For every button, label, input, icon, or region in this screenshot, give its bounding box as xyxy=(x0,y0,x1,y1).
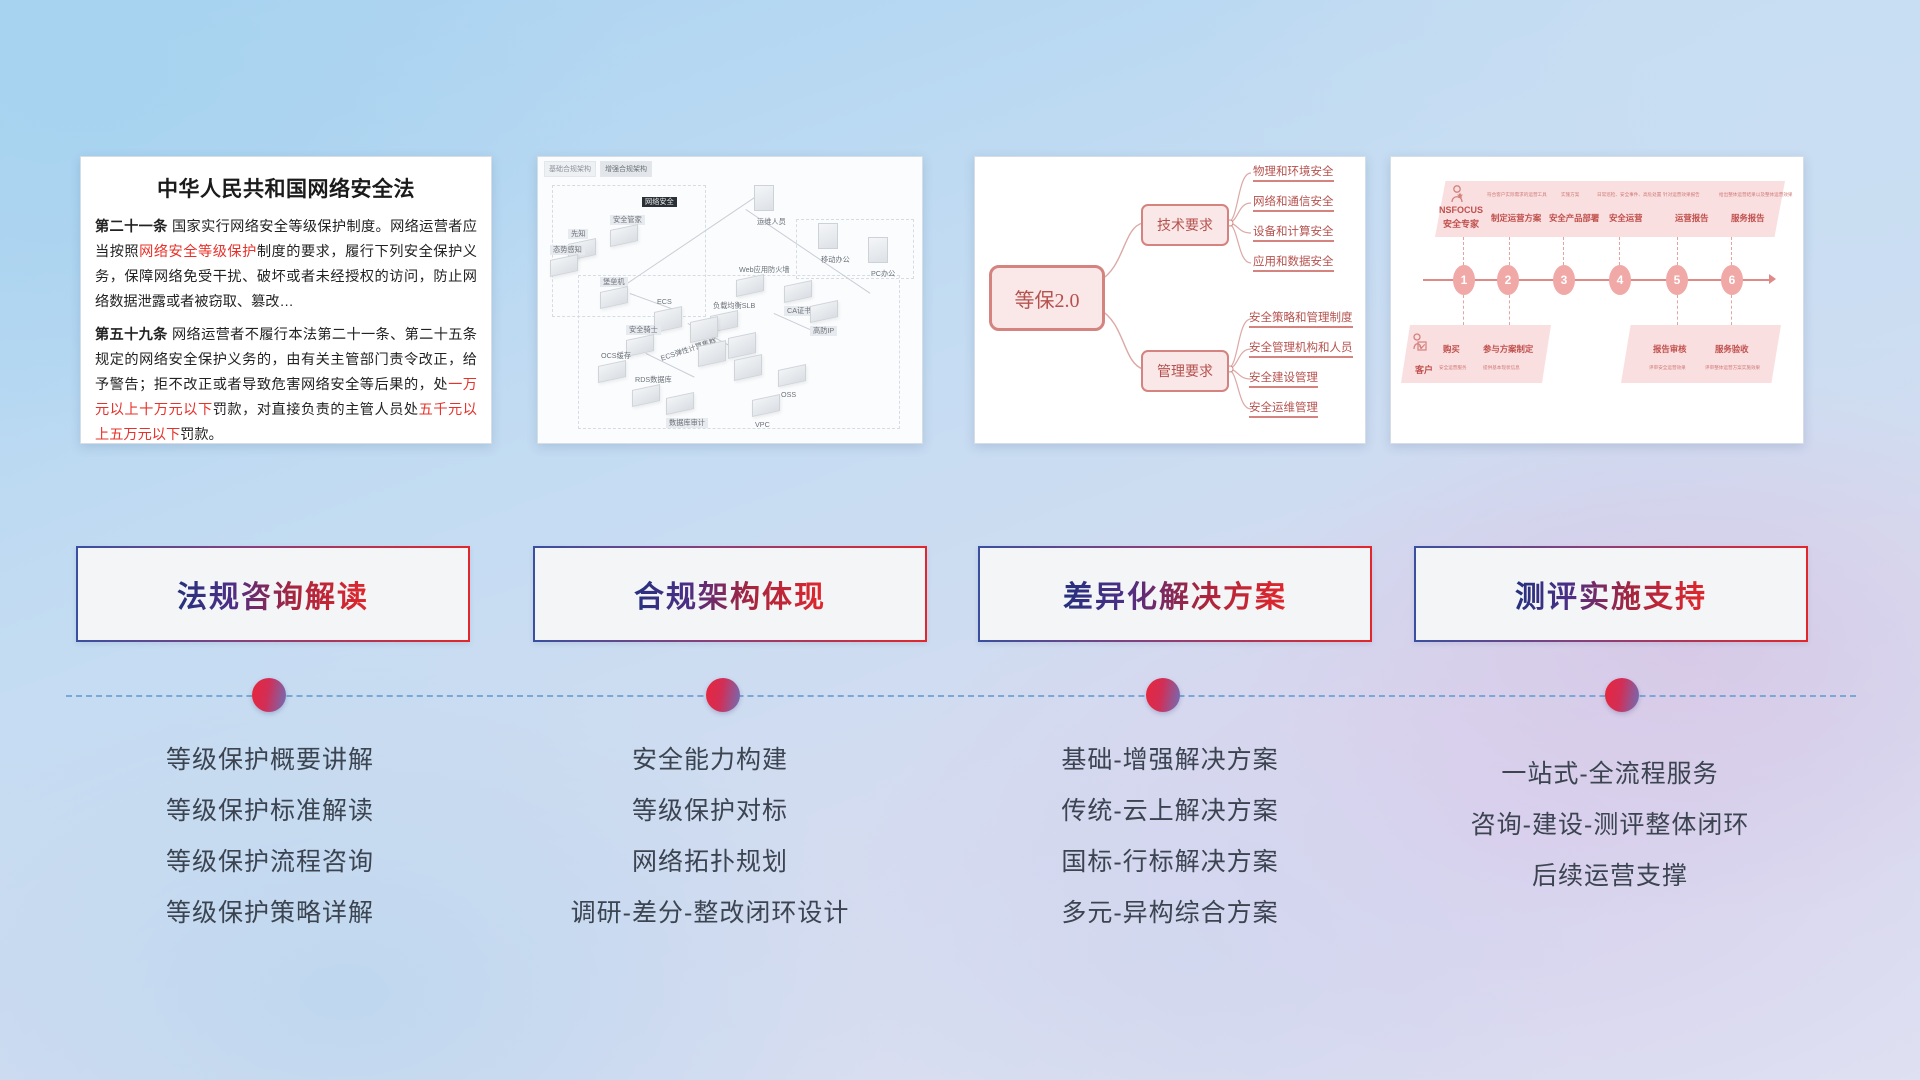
node-label: 数据库审计 xyxy=(666,418,708,428)
timeline-node-3[interactable] xyxy=(1146,678,1180,712)
node-label: VPC xyxy=(752,420,773,430)
timeline-axis xyxy=(1423,279,1771,281)
isometric-box-icon xyxy=(598,360,626,383)
section-title-row: 法规咨询解读 合规架构体现 差异化解决方案 测评实施支持 xyxy=(0,546,1920,642)
step-label: 安全运营 xyxy=(1609,212,1643,224)
node-network-security: 网络安全 xyxy=(642,191,677,209)
timeline-step-dot[interactable]: 2 xyxy=(1497,265,1519,295)
isometric-box-icon xyxy=(600,286,628,309)
server-icon xyxy=(818,223,838,249)
law-document: 中华人民共和国网络安全法 第二十一条 国家实行网络安全等级保护制度。网络运营者应… xyxy=(81,157,491,443)
step-note: 评审安全运营效果 xyxy=(1649,365,1686,371)
mindmap-leaf: 安全运维管理 xyxy=(1249,399,1318,418)
list-item: 一站式-全流程服务 xyxy=(1400,749,1820,800)
node-label: 先知 xyxy=(568,229,588,239)
article-21-highlight: 网络安全等级保护 xyxy=(139,244,257,260)
mindmap: 等保2.0 技术要求 物理和环境安全 网络和通信安全 设备和计算安全 应用和数据… xyxy=(975,157,1365,443)
isometric-box-icon xyxy=(728,332,756,359)
isometric-box-icon xyxy=(752,394,780,417)
timeline-node-2[interactable] xyxy=(706,678,740,712)
list-item: 咨询-建设-测评整体闭环 xyxy=(1400,800,1820,851)
card-service-timeline: NSFOCUS 安全专家 符合客户实际需求的运营工具 制定运营方案 实施方案 安… xyxy=(1390,156,1804,444)
step-note: 日常巡检、安全事件、高危处置 xyxy=(1597,192,1661,198)
mindmap-leaf: 安全策略和管理制度 xyxy=(1249,309,1353,328)
isometric-box-icon xyxy=(778,364,806,387)
card-mindmap-dengbao: 等保2.0 技术要求 物理和环境安全 网络和通信安全 设备和计算安全 应用和数据… xyxy=(974,156,1366,444)
architecture-diagram: 基础合规架构 增强合规架构 网络安全 安全管家 xyxy=(538,157,922,443)
timeline-step-dot[interactable]: 1 xyxy=(1453,265,1475,295)
section-detail-row: 等级保护概要讲解 等级保护标准解读 等级保护流程咨询 等级保护策略详解 安全能力… xyxy=(0,735,1920,985)
card-cybersecurity-law: 中华人民共和国网络安全法 第二十一条 国家实行网络安全等级保护制度。网络运营者应… xyxy=(80,156,492,444)
detail-column-4: 一站式-全流程服务 咨询-建设-测评整体闭环 后续运营支撑 xyxy=(1400,749,1820,902)
step-label: 购买 xyxy=(1443,343,1460,355)
node-compute-unit xyxy=(698,343,726,364)
node-ops-personnel: 运维人员 xyxy=(754,185,789,229)
timeline-connector xyxy=(1463,237,1464,265)
section-title-text: 法规咨询解读 xyxy=(177,572,369,616)
mindmap-branch-management[interactable]: 管理要求 xyxy=(1141,350,1229,392)
law-article-59: 第五十九条 网络运营者不履行本法第二十一条、第二十五条规定的网络安全保护义务的，… xyxy=(95,323,477,444)
isometric-box-icon xyxy=(736,274,764,297)
node-compute-unit xyxy=(734,357,762,378)
expert-icon xyxy=(1449,185,1465,203)
node-vpc: VPC xyxy=(752,397,780,432)
architecture-tabs: 基础合规架构 增强合规架构 xyxy=(544,161,652,177)
section-title-text: 合规架构体现 xyxy=(634,572,826,616)
node-situational-awareness: 态势感知 xyxy=(550,239,585,274)
isometric-box-icon xyxy=(810,300,838,323)
detail-column-1: 等级保护概要讲解 等级保护标准解读 等级保护流程咨询 等级保护策略详解 xyxy=(60,735,480,939)
provider-role-sub: 安全专家 xyxy=(1443,217,1479,230)
article-59-label: 第五十九条 xyxy=(95,327,168,343)
tab-basic-architecture[interactable]: 基础合规架构 xyxy=(544,161,596,177)
isometric-box-icon xyxy=(734,354,762,381)
provider-role-name: NSFOCUS xyxy=(1439,205,1483,215)
server-icon xyxy=(754,185,774,211)
node-ocs-cache: OCS缓存 xyxy=(598,345,634,380)
detail-column-2: 安全能力构建 等级保护对标 网络拓扑规划 调研-差分-整改闭环设计 xyxy=(500,735,920,939)
node-label: 安全骑士 xyxy=(626,325,661,335)
timeline-arrow-icon xyxy=(1769,274,1776,284)
list-item: 国标-行标解决方案 xyxy=(960,837,1380,888)
step-label: 报告审核 xyxy=(1653,343,1687,355)
timeline-connector xyxy=(1731,237,1732,265)
mindmap-leaf: 网络和通信安全 xyxy=(1253,193,1334,212)
step-note: 安全运营服务 xyxy=(1439,365,1467,371)
law-article-21: 第二十一条 国家实行网络安全等级保护制度。网络运营者应当按照网络安全等级保护制度… xyxy=(95,215,477,315)
step-note: 针对运营效果报告 xyxy=(1663,192,1700,198)
step-label: 安全产品部署 xyxy=(1549,212,1599,224)
node-label: 安全管家 xyxy=(610,215,645,225)
step-label: 制定运营方案 xyxy=(1491,212,1541,224)
list-item: 等级保护标准解读 xyxy=(60,786,480,837)
customer-band-right xyxy=(1621,325,1781,383)
mindmap-branch-technical[interactable]: 技术要求 xyxy=(1141,204,1229,246)
timeline-axis-row xyxy=(0,660,1920,720)
node-label: 高防IP xyxy=(810,326,837,336)
step-label: 运营报告 xyxy=(1675,212,1709,224)
step-note: 提供基本现状信息 xyxy=(1483,365,1520,371)
step-note: 评审整体运营方案实施效果 xyxy=(1705,365,1760,371)
law-title: 中华人民共和国网络安全法 xyxy=(95,173,477,203)
isometric-box-icon xyxy=(666,392,694,415)
isometric-box-icon xyxy=(784,280,812,303)
step-label: 服务报告 xyxy=(1731,212,1765,224)
timeline-node-1[interactable] xyxy=(252,678,286,712)
timeline-connector xyxy=(1509,295,1510,325)
illustration-row: 中华人民共和国网络安全法 第二十一条 国家实行网络安全等级保护制度。网络运营者应… xyxy=(0,0,1920,460)
section-title-box-3[interactable]: 差异化解决方案 xyxy=(978,546,1372,642)
mindmap-root[interactable]: 等保2.0 xyxy=(989,265,1105,331)
timeline-connector xyxy=(1731,295,1732,325)
node-label: Web应用防火墙 xyxy=(736,265,793,275)
card-compliance-architecture: 基础合规架构 增强合规架构 网络安全 安全管家 xyxy=(537,156,923,444)
timeline-connector xyxy=(1509,237,1510,265)
node-label: 负载均衡SLB xyxy=(710,301,758,311)
list-item: 等级保护策略详解 xyxy=(60,888,480,939)
article-59-text-c: 罚款。 xyxy=(180,427,223,443)
node-label: OCS缓存 xyxy=(598,351,634,361)
customer-icon xyxy=(1413,333,1428,351)
step-label: 参与方案制定 xyxy=(1483,343,1533,355)
section-title-box-2[interactable]: 合规架构体现 xyxy=(533,546,927,642)
timeline-connector xyxy=(1677,237,1678,265)
section-title-text: 测评实施支持 xyxy=(1515,572,1707,616)
timeline-step-dot[interactable]: 6 xyxy=(1721,265,1743,295)
node-bastion-host: 堡垒机 xyxy=(600,271,628,306)
mindmap-leaf: 安全管理机构和人员 xyxy=(1249,339,1353,358)
node-oss: OSS xyxy=(778,367,806,402)
list-item: 等级保护流程咨询 xyxy=(60,837,480,888)
timeline-node-4[interactable] xyxy=(1605,678,1639,712)
mindmap-leaf: 应用和数据安全 xyxy=(1253,253,1334,272)
step-note: 符合客户实际需求的运营工具 xyxy=(1487,192,1547,198)
list-item: 等级保护对标 xyxy=(500,786,920,837)
isometric-box-icon xyxy=(690,316,718,343)
list-item: 基础-增强解决方案 xyxy=(960,735,1380,786)
timeline-connector xyxy=(1563,237,1564,265)
node-label: PC办公 xyxy=(868,269,898,279)
step-note: 给出整体运营结果以及整体运营效果 xyxy=(1719,192,1793,198)
list-item: 网络拓扑规划 xyxy=(500,837,920,888)
isometric-box-icon xyxy=(550,254,578,277)
node-compute-unit xyxy=(690,319,718,340)
node-compute-unit xyxy=(728,335,756,356)
node-label: ECS xyxy=(654,297,675,307)
list-item: 后续运营支撑 xyxy=(1400,851,1820,902)
step-label: 服务验收 xyxy=(1715,343,1749,355)
service-timeline: NSFOCUS 安全专家 符合客户实际需求的运营工具 制定运营方案 实施方案 安… xyxy=(1391,157,1803,443)
list-item: 等级保护概要讲解 xyxy=(60,735,480,786)
timeline-step-dot[interactable]: 3 xyxy=(1553,265,1575,295)
server-icon xyxy=(868,237,888,263)
tab-enhanced-architecture[interactable]: 增强合规架构 xyxy=(600,161,652,177)
node-label: OSS xyxy=(778,390,799,400)
timeline-connector xyxy=(1619,237,1620,265)
node-label: 运维人员 xyxy=(754,217,789,227)
mindmap-leaf: 物理和环境安全 xyxy=(1253,163,1334,182)
node-label: 网络安全 xyxy=(642,197,677,207)
article-21-label: 第二十一条 xyxy=(95,219,168,235)
node-security-butler: 安全管家 xyxy=(610,209,645,244)
dashed-connector-line xyxy=(66,695,1856,697)
isometric-box-icon xyxy=(632,384,660,407)
node-database-audit: 数据库审计 xyxy=(666,395,708,430)
section-title-box-4[interactable]: 测评实施支持 xyxy=(1414,546,1808,642)
detail-column-3: 基础-增强解决方案 传统-云上解决方案 国标-行标解决方案 多元-异构综合方案 xyxy=(960,735,1380,939)
slide-stage: 中华人民共和国网络安全法 第二十一条 国家实行网络安全等级保护制度。网络运营者应… xyxy=(0,0,1920,1080)
mindmap-leaf: 设备和计算安全 xyxy=(1253,223,1334,242)
timeline-connector xyxy=(1677,295,1678,325)
node-mobile-office: 移动办公 xyxy=(818,223,853,267)
article-59-text-b: 罚款，对直接负责的主管人员处 xyxy=(213,402,419,418)
node-label: 移动办公 xyxy=(818,255,853,265)
node-label: 堡垒机 xyxy=(600,277,628,287)
timeline-step-dot[interactable]: 4 xyxy=(1609,265,1631,295)
node-label: 态势感知 xyxy=(550,245,585,255)
list-item: 调研-差分-整改闭环设计 xyxy=(500,888,920,939)
provider-band xyxy=(1435,181,1785,237)
list-item: 多元-异构综合方案 xyxy=(960,888,1380,939)
customer-role-name: 客户 xyxy=(1415,363,1433,376)
node-label: RDS数据库 xyxy=(632,375,675,385)
node-pc-office: PC办公 xyxy=(868,237,898,281)
isometric-box-icon xyxy=(610,224,638,247)
isometric-box-icon xyxy=(698,340,726,367)
section-title-box-1[interactable]: 法规咨询解读 xyxy=(76,546,470,642)
mindmap-leaf: 安全建设管理 xyxy=(1249,369,1318,388)
step-note: 实施方案 xyxy=(1561,192,1579,198)
timeline-step-dot[interactable]: 5 xyxy=(1666,265,1688,295)
section-title-text: 差异化解决方案 xyxy=(1063,572,1287,616)
timeline-connector xyxy=(1463,295,1464,325)
list-item: 传统-云上解决方案 xyxy=(960,786,1380,837)
node-anti-ddos-ip: 高防IP xyxy=(810,303,838,338)
list-item: 安全能力构建 xyxy=(500,735,920,786)
